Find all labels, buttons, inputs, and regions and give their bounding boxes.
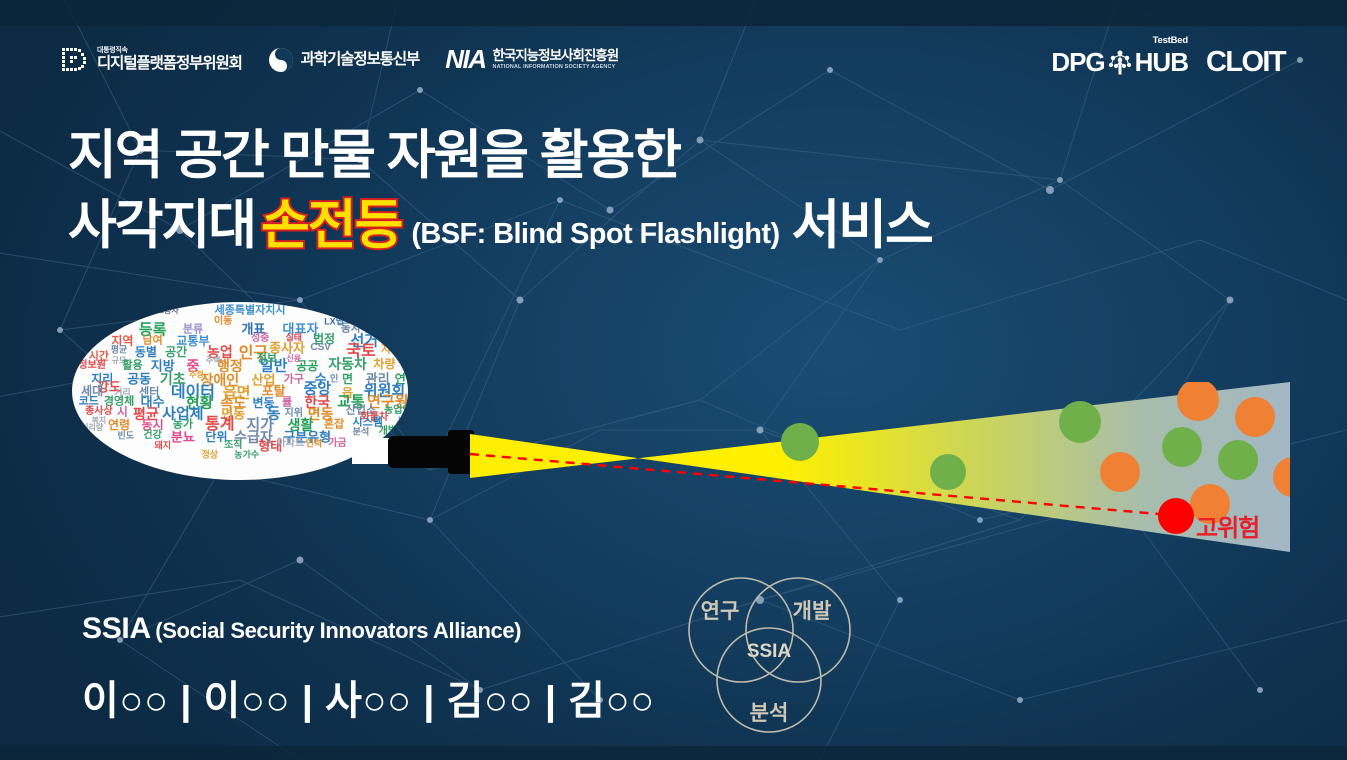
wordcloud-word: 동별 bbox=[135, 346, 157, 358]
logo-dpg-main-label: 디지털플랫폼정부위원회 bbox=[97, 56, 242, 72]
logo-msit-label: 과학기술정보통신부 bbox=[301, 52, 419, 68]
alliance-name: SSIA (Social Security Innovators Allianc… bbox=[82, 612, 521, 646]
bottom-band bbox=[0, 746, 1347, 760]
logo-dpg-sub-label: 대통령직속 bbox=[97, 47, 242, 54]
logo-nia-label: 한국지능정보사회진흥원 bbox=[493, 49, 619, 63]
wordcloud-word: 정상 bbox=[201, 451, 218, 460]
wordcloud-word: 혼잡 bbox=[324, 419, 344, 430]
risk-dot-green bbox=[930, 454, 966, 490]
logo-cloit: CLOIT bbox=[1206, 46, 1285, 79]
alliance-full-name: (Social Security Innovators Alliance) bbox=[155, 618, 521, 643]
team-member-names: 이○○ | 이○○ | 사○○ | 김○○ | 김○○ bbox=[82, 668, 655, 726]
venn-label-development: 개발 bbox=[793, 600, 832, 623]
venn-label-analysis: 분석 bbox=[750, 702, 789, 725]
wordcloud-word: 이동 bbox=[214, 317, 232, 327]
title-suffix: 서비스 bbox=[792, 192, 932, 260]
risk-dot-green bbox=[1059, 401, 1101, 443]
dpg-hub-left-word: DPG bbox=[1051, 47, 1104, 78]
risk-dot-orange bbox=[1235, 397, 1275, 437]
wordcloud-word: 행정 bbox=[217, 359, 243, 373]
hub-tree-icon bbox=[1107, 49, 1133, 77]
dpg-hub-testbed-badge: TestBed bbox=[1153, 35, 1188, 46]
wordcloud-word: 연령 bbox=[108, 419, 130, 431]
logo-digital-platform-government-committee: 대통령직속 디지털플랫폼정부위원회 bbox=[60, 45, 242, 75]
wordcloud-word: 주택 bbox=[206, 357, 221, 365]
wordcloud-word: 정보원 bbox=[78, 361, 106, 371]
wordcloud-word: 보장 bbox=[401, 359, 408, 370]
ssia-venn-diagram: 연구 개발 분석 SSIA bbox=[676, 572, 866, 742]
wordcloud-word: 활용 bbox=[122, 361, 142, 372]
high-risk-label: 고위험 bbox=[1196, 508, 1259, 543]
venn-circle-research bbox=[689, 578, 793, 682]
dpg-committee-icon bbox=[60, 45, 90, 75]
wordcloud-word: 공동 bbox=[127, 372, 151, 385]
wordcloud-word: 가금 bbox=[328, 439, 346, 449]
wordcloud-word: 건강 bbox=[143, 431, 161, 441]
wordcloud-word: 농가수 bbox=[234, 451, 259, 460]
title-english-abbrev: (BSF: Blind Spot Flashlight) bbox=[411, 216, 779, 253]
logo-nia: NIA 한국지능정보사회진흥원 NATIONAL INFORMATION SOC… bbox=[445, 44, 618, 75]
wordcloud-word: 시정 bbox=[396, 417, 408, 426]
top-band bbox=[0, 0, 1347, 26]
flashlight-graphic: 한국국토정보공사세종특별자치시LX맵대상등록이동분류개표대표자동사무소이동연구지… bbox=[0, 290, 1347, 580]
wordcloud-word: CSV bbox=[310, 343, 331, 353]
logo-msit: 과학기술정보통신부 bbox=[268, 47, 419, 73]
partner-logo-bar-left: 대통령직속 디지털플랫폼정부위원회 과학기술정보통신부 NIA 한국지능정보사회… bbox=[60, 44, 618, 75]
title-line-1: 지역 공간 만물 자원을 활용한 bbox=[68, 122, 932, 190]
wordcloud-word: 차량 bbox=[373, 358, 395, 370]
risk-dot-green bbox=[1218, 440, 1258, 480]
page-title: 지역 공간 만물 자원을 활용한 사각지대 손전등 (BSF: Blind Sp… bbox=[68, 122, 932, 260]
wordcloud-word: 평균 bbox=[111, 346, 128, 355]
venn-label-research: 연구 bbox=[701, 600, 740, 623]
logo-nia-acronym: NIA bbox=[445, 44, 485, 75]
wordcloud-word: 아파트 bbox=[277, 439, 305, 449]
wordcloud-word: 자료 bbox=[381, 345, 401, 356]
logo-nia-english: NATIONAL INFORMATION SOCIETY AGENCY bbox=[493, 65, 619, 70]
wordcloud-word: 인력 bbox=[306, 440, 323, 449]
wordcloud-word: 추정 bbox=[189, 371, 204, 379]
venn-label-center: SSIA bbox=[747, 641, 792, 662]
taegeuk-icon bbox=[268, 47, 294, 73]
wordcloud-word: 시 bbox=[117, 406, 128, 418]
dpg-hub-right-word: HUB bbox=[1135, 47, 1188, 78]
wordcloud-word: 분뇨 bbox=[171, 431, 195, 444]
alliance-acronym: SSIA bbox=[82, 612, 151, 645]
risk-dot-green bbox=[781, 423, 819, 461]
wordcloud-word: 빈도 bbox=[117, 431, 134, 440]
wordcloud-word: 신용 bbox=[286, 355, 301, 363]
title-slide: 대통령직속 디지털플랫폼정부위원회 과학기술정보통신부 NIA 한국지능정보사회… bbox=[0, 0, 1347, 760]
wordcloud-word: 면 bbox=[342, 373, 353, 385]
wordcloud-word: 한국국토정보공사 bbox=[120, 307, 179, 315]
venn-circle-development bbox=[746, 578, 850, 682]
risk-dot-green bbox=[1162, 427, 1202, 467]
wordcloud-word: 공간 bbox=[165, 346, 187, 358]
title-line-2: 사각지대 손전등 (BSF: Blind Spot Flashlight) 서비… bbox=[68, 192, 932, 260]
logo-dpg-hub: DPG HUB TestBed bbox=[1051, 47, 1188, 78]
title-prefix: 사각지대 bbox=[68, 192, 255, 260]
wordcloud-word: 가구 bbox=[284, 375, 304, 386]
high-risk-marker-dot bbox=[1158, 498, 1194, 534]
wordcloud-word: 자동차 bbox=[328, 357, 367, 371]
wordcloud-word: 정보 bbox=[257, 353, 277, 364]
title-highlight-flashlight: 손전등 bbox=[261, 192, 401, 260]
wordcloud-word: 성중 bbox=[251, 334, 269, 344]
wordcloud-word: 처리량 bbox=[81, 424, 103, 432]
flashlight-beam bbox=[470, 382, 1290, 552]
wordcloud-word: 분석 bbox=[353, 427, 370, 436]
wordcloud-word: 돼지 bbox=[154, 442, 171, 451]
risk-dot-orange bbox=[1100, 452, 1140, 492]
partner-logo-bar-right: DPG HUB TestBed CLOIT bbox=[1051, 46, 1285, 79]
wordcloud-word: 농가 bbox=[173, 419, 193, 430]
wordcloud-word: 이동연구 bbox=[385, 321, 408, 330]
